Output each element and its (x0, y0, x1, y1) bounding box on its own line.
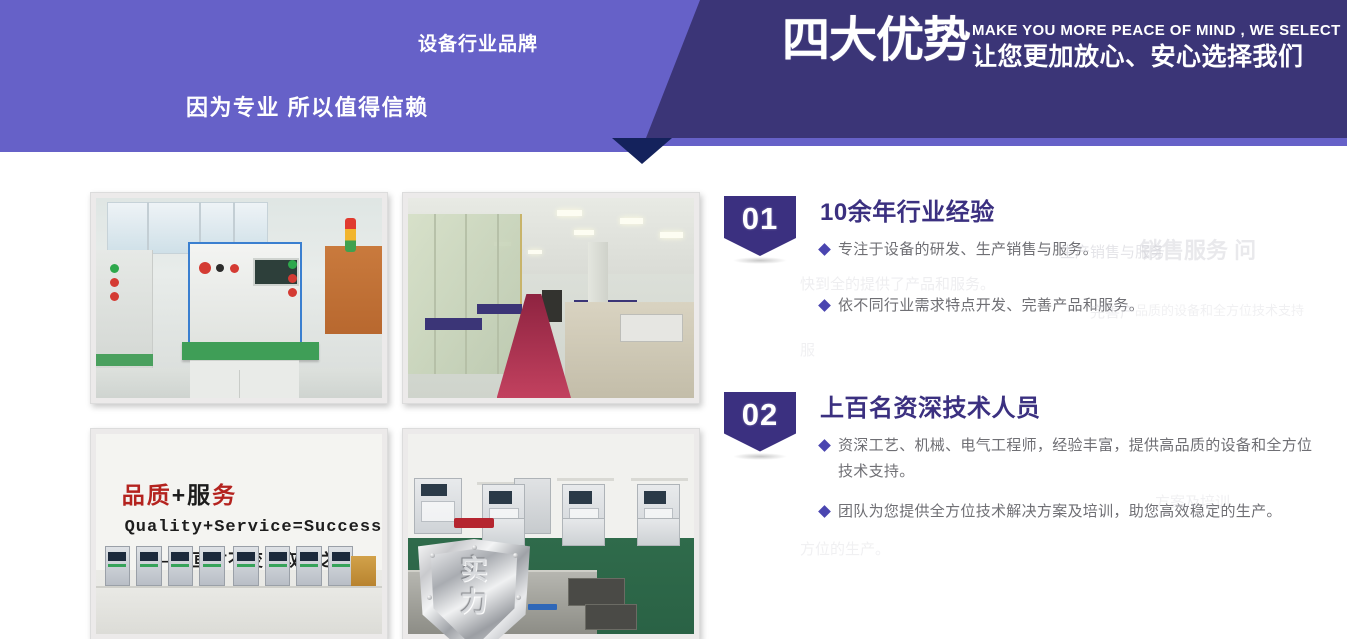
advantage-body-01: 10余年行业经验 专注于设备的研发、生产销售与服务。 依不同行业需求特点开发、完… (820, 192, 1324, 320)
brand-tag: 设备行业品牌 (418, 29, 538, 56)
advantage-badge-01: 01 (724, 196, 796, 256)
photo-office-corridor[interactable] (402, 192, 700, 404)
advantage-list: 01 10余年行业经验 专注于设备的研发、生产销售与服务。 依不同行业需求特点开… (724, 192, 1324, 555)
photo-machine-workshop[interactable] (90, 192, 388, 404)
advantage-bullet-text: 团队为您提供全方位技术解决方案及培训，助您高效稳定的生产。 (838, 499, 1282, 525)
advantage-body-02: 上百名资深技术人员 资深工艺、机械、电气工程师，经验丰富，提供高品质的设备和全方… (820, 388, 1324, 526)
headline-subtitle: 让您更加放心、安心选择我们 (972, 44, 1341, 72)
advantage-bullet-text: 依不同行业需求特点开发、完善产品和服务。 (838, 293, 1144, 319)
headline-chinese: 四大优势 (782, 16, 970, 66)
shield-label-line2: 力 (418, 589, 530, 617)
diamond-bullet-icon (818, 439, 831, 452)
badge-number: 01 (724, 201, 796, 237)
photo-quality-wall[interactable]: 品质+服务 Quality+Service=Success ——亘古不变的取胜之… (90, 428, 388, 639)
advantage-bullet: 专注于设备的研发、生产销售与服务。 (820, 237, 1324, 263)
advantage-title: 10余年行业经验 (820, 192, 1324, 227)
page-root: 设备行业品牌 因为专业 所以值得信赖 四大优势 MAKE YOU MORE PE… (0, 0, 1347, 639)
badge-shadow (733, 453, 787, 460)
shield-label-line1: 实 (418, 557, 530, 585)
advantage-bullet: 团队为您提供全方位技术解决方案及培训，助您高效稳定的生产。 (820, 499, 1324, 525)
photo-quality-wall-image: 品质+服务 Quality+Service=Success ——亘古不变的取胜之… (96, 434, 382, 634)
advantage-title: 上百名资深技术人员 (820, 388, 1324, 423)
advantage-badge-02: 02 (724, 392, 796, 452)
wall-slogan-cn: 品质+服务 (122, 476, 237, 510)
advantage-bullet-text: 专注于设备的研发、生产销售与服务。 (838, 237, 1098, 263)
wall-slogan-en: Quality+Service=Success (125, 518, 382, 537)
headline-english: MAKE YOU MORE PEACE OF MIND , WE SELECT (972, 22, 1341, 40)
photo-grid: 品质+服务 Quality+Service=Success ——亘古不变的取胜之… (88, 192, 700, 639)
diamond-bullet-icon (818, 299, 831, 312)
photo-machine-workshop-image (96, 198, 382, 398)
badge-number: 02 (724, 397, 796, 433)
advantage-bullet: 依不同行业需求特点开发、完善产品和服务。 (820, 293, 1324, 319)
banner-light-tail (0, 138, 640, 152)
badge-shadow (733, 257, 787, 264)
header-banner: 设备行业品牌 因为专业 所以值得信赖 四大优势 MAKE YOU MORE PE… (0, 0, 1347, 152)
advantage-bullet: 资深工艺、机械、电气工程师，经验丰富，提供高品质的设备和全方位技术支持。 (820, 433, 1324, 486)
advantage-bullet-text: 资深工艺、机械、电气工程师，经验丰富，提供高品质的设备和全方位技术支持。 (838, 433, 1324, 486)
brand-slogan: 因为专业 所以值得信赖 (186, 90, 429, 122)
shield-emblem: 实 力 (418, 539, 530, 639)
headline-group: 四大优势 MAKE YOU MORE PEACE OF MIND , WE SE… (782, 16, 1341, 72)
diamond-bullet-icon (818, 505, 831, 518)
headline-right-group: MAKE YOU MORE PEACE OF MIND , WE SELECT … (972, 16, 1341, 72)
diamond-bullet-icon (818, 243, 831, 256)
advantage-item-01: 01 10余年行业经验 专注于设备的研发、生产销售与服务。 依不同行业需求特点开… (724, 192, 1324, 320)
advantage-item-02: 02 上百名资深技术人员 资深工艺、机械、电气工程师，经验丰富，提供高品质的设备… (724, 388, 1324, 526)
photo-office-corridor-image (408, 198, 694, 398)
